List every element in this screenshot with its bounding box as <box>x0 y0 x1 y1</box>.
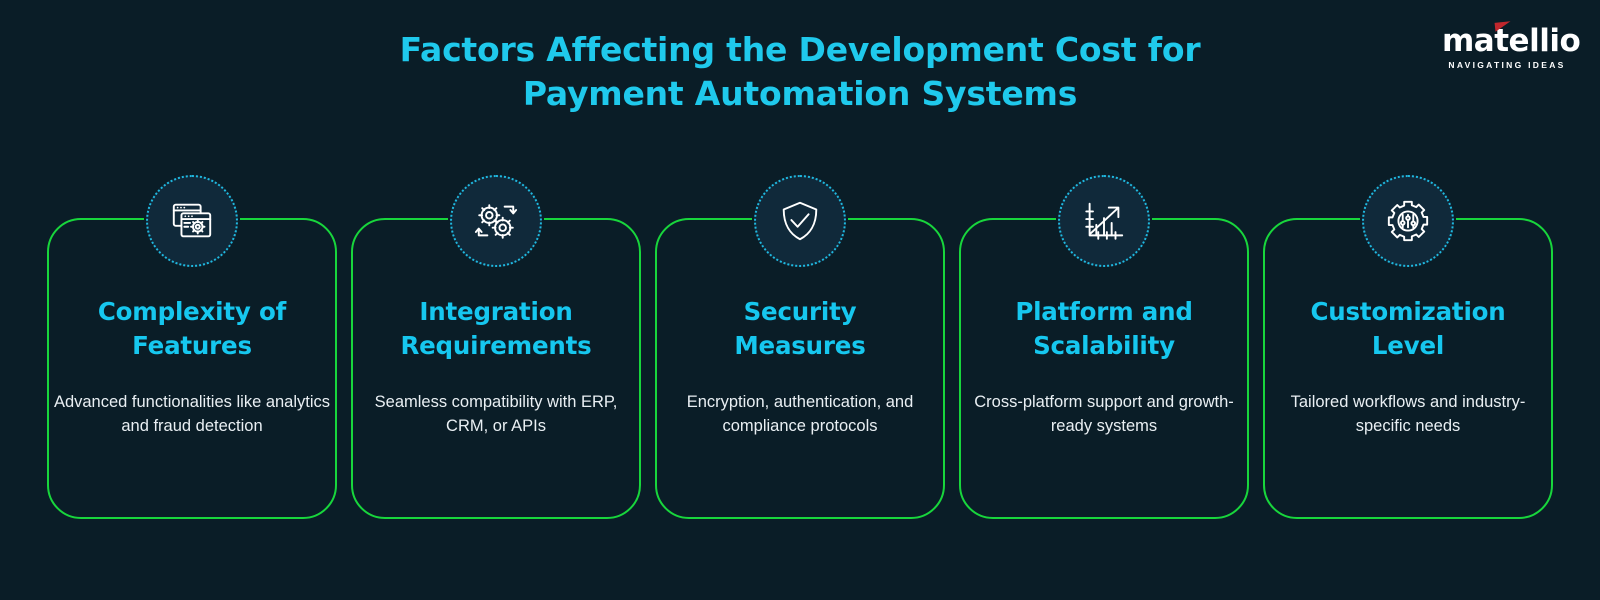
card-title-line-1: Complexity of <box>53 295 331 329</box>
card-content: Security Measures Encryption, authentica… <box>661 295 939 438</box>
factor-card-complexity[interactable]: Complexity of Features Advanced function… <box>47 175 337 525</box>
card-description: Encryption, authentication, and complian… <box>661 390 939 438</box>
factor-card-integration[interactable]: Integration Requirements Seamless compat… <box>351 175 641 525</box>
card-content: Complexity of Features Advanced function… <box>53 295 331 438</box>
card-title-line-1: Customization <box>1269 295 1547 329</box>
card-icon-badge <box>1362 175 1454 267</box>
card-icon-badge <box>1058 175 1150 267</box>
card-content: Platform and Scalability Cross-platform … <box>965 295 1243 438</box>
page-title-line-1: Factors Affecting the Development Cost f… <box>0 28 1600 72</box>
factor-card-platform[interactable]: Platform and Scalability Cross-platform … <box>959 175 1249 525</box>
card-title-line-1: Platform and <box>965 295 1243 329</box>
card-title: Platform and Scalability <box>965 295 1243 364</box>
card-icon-badge <box>450 175 542 267</box>
card-title-line-2: Requirements <box>357 329 635 363</box>
shield-check-icon <box>777 198 823 244</box>
card-title-line-1: Integration <box>357 295 635 329</box>
card-title: Complexity of Features <box>53 295 331 364</box>
card-description: Seamless compatibility with ERP, CRM, or… <box>357 390 635 438</box>
windows-gear-icon <box>169 198 215 244</box>
card-title-line-2: Measures <box>661 329 939 363</box>
page-title-line-2: Payment Automation Systems <box>0 72 1600 116</box>
page-title: Factors Affecting the Development Cost f… <box>0 28 1600 116</box>
card-icon-badge <box>754 175 846 267</box>
card-description: Advanced functionalities like analytics … <box>53 390 331 438</box>
gears-sync-icon <box>473 198 519 244</box>
gear-sliders-icon <box>1385 198 1431 244</box>
card-title: Security Measures <box>661 295 939 364</box>
card-title-line-2: Level <box>1269 329 1547 363</box>
card-title-line-2: Features <box>53 329 331 363</box>
card-content: Integration Requirements Seamless compat… <box>357 295 635 438</box>
card-description: Cross-platform support and growth-ready … <box>965 390 1243 438</box>
card-title: Customization Level <box>1269 295 1547 364</box>
factor-card-row: Complexity of Features Advanced function… <box>47 175 1553 525</box>
card-description: Tailored workflows and industry-specific… <box>1269 390 1547 438</box>
card-title-line-2: Scalability <box>965 329 1243 363</box>
card-content: Customization Level Tailored workflows a… <box>1269 295 1547 438</box>
card-icon-badge <box>146 175 238 267</box>
factor-card-security[interactable]: Security Measures Encryption, authentica… <box>655 175 945 525</box>
card-title-line-1: Security <box>661 295 939 329</box>
factor-card-customization[interactable]: Customization Level Tailored workflows a… <box>1263 175 1553 525</box>
card-title: Integration Requirements <box>357 295 635 364</box>
growth-chart-icon <box>1081 198 1127 244</box>
